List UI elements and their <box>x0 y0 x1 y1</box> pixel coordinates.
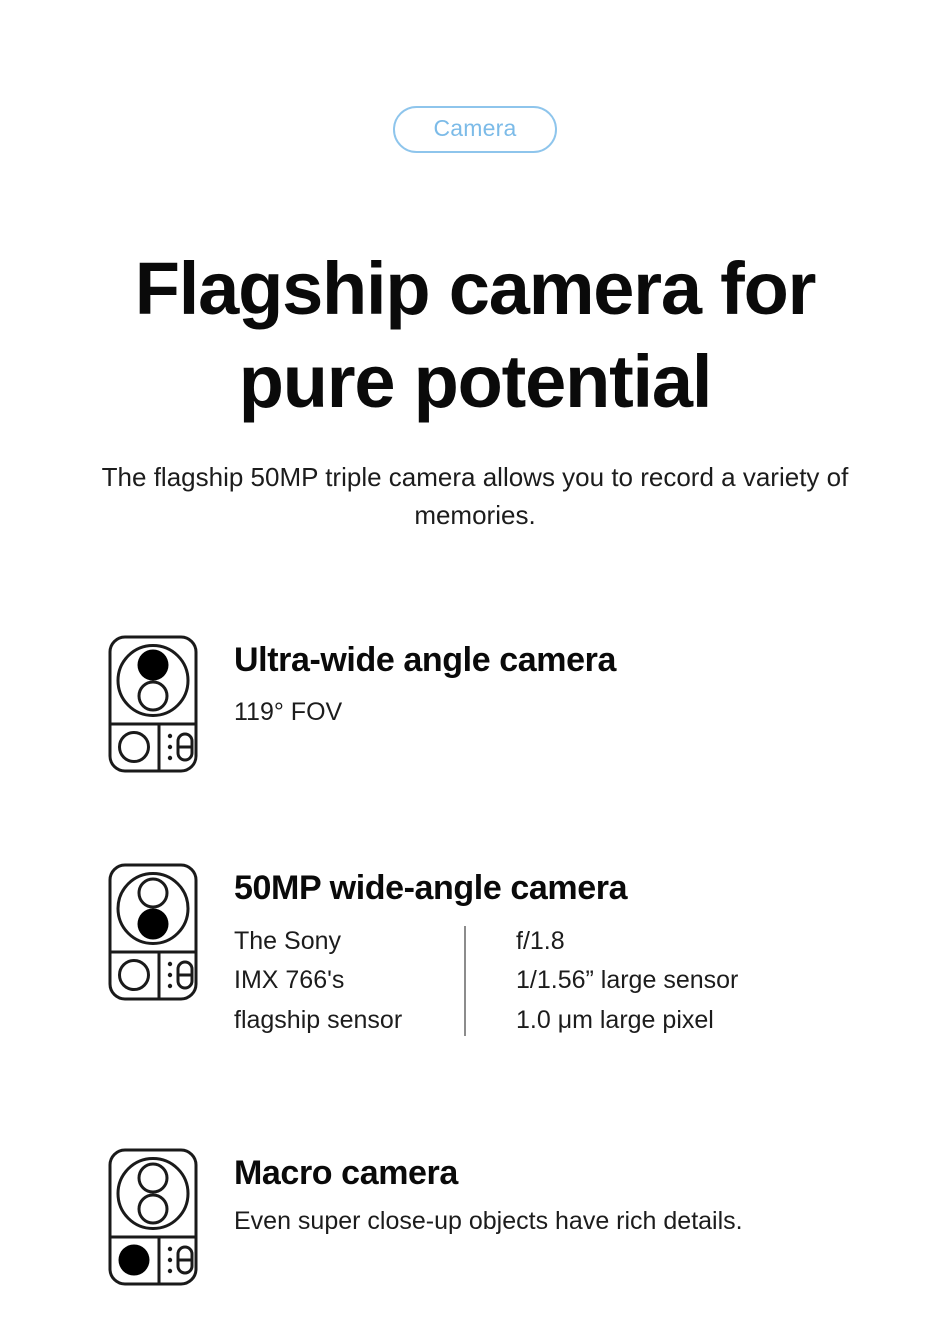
spec-column-left: The Sony IMX 766's flagship sensor <box>234 922 464 1041</box>
badge-row: Camera <box>0 106 950 153</box>
page-subtitle: The flagship 50MP triple camera allows y… <box>75 458 875 535</box>
feature-title: Ultra-wide angle camera <box>234 641 908 680</box>
spec-columns: The Sony IMX 766's flagship sensor f/1.8… <box>234 922 908 1041</box>
spec-line: 1.0 μm large pixel <box>516 1001 738 1041</box>
feature-macro-camera: Macro camera Even super close-up objects… <box>108 1148 908 1286</box>
feature-body: Macro camera Even super close-up objects… <box>234 1148 908 1239</box>
feature-body: Ultra-wide angle camera 119° FOV <box>234 635 908 730</box>
spec-line: 1/1.56” large sensor <box>516 961 738 1001</box>
feature-subtitle: 119° FOV <box>234 694 908 730</box>
spec-divider <box>464 926 466 1037</box>
camera-module-ultrawide-icon <box>108 635 198 773</box>
feature-50mp-wide-angle-camera: 50MP wide-angle camera The Sony IMX 766'… <box>108 863 908 1040</box>
feature-ultra-wide-angle-camera: Ultra-wide angle camera 119° FOV <box>108 635 908 773</box>
page-title-line-1: Flagship camera for <box>135 247 815 330</box>
camera-module-wide-icon <box>108 863 198 1001</box>
camera-module-macro-icon <box>108 1148 198 1286</box>
spec-line: IMX 766's <box>234 961 464 1001</box>
feature-body: 50MP wide-angle camera The Sony IMX 766'… <box>234 863 908 1040</box>
feature-subtitle: Even super close-up objects have rich de… <box>234 1203 908 1239</box>
feature-title: 50MP wide-angle camera <box>234 869 908 908</box>
page-title-line-2: pure potential <box>0 335 950 428</box>
spec-line: f/1.8 <box>516 922 738 962</box>
page-title: Flagship camera for pure potential <box>0 242 950 428</box>
spec-line: flagship sensor <box>234 1001 464 1041</box>
camera-badge[interactable]: Camera <box>393 106 556 153</box>
feature-title: Macro camera <box>234 1154 908 1193</box>
spec-column-right: f/1.8 1/1.56” large sensor 1.0 μm large … <box>516 922 738 1041</box>
spec-line: The Sony <box>234 922 464 962</box>
